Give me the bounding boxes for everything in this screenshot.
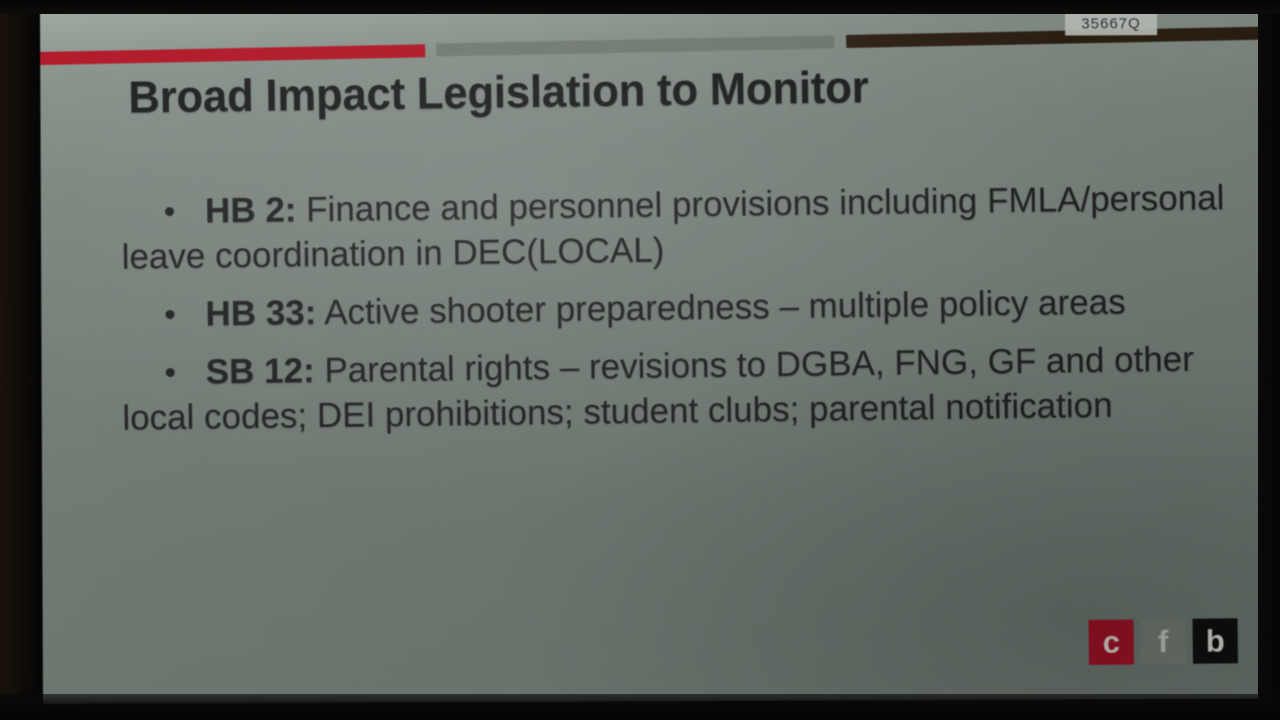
bill-code-label: SB 12: [206,352,315,392]
bottom-bezel-edge [0,694,1280,720]
bill-description: Active shooter preparedness – multiple p… [316,283,1126,333]
right-bezel-edge [1258,0,1280,720]
bill-code-label: HB 33: [205,293,316,333]
bullet-dot-icon [165,207,174,216]
rule-bar-dark [846,27,1262,48]
presentation-slide: 35667Q Broad Impact Legislation to Monit… [40,7,1265,704]
cfb-logo: c f b [1089,618,1239,665]
list-item: HB 33: Active shooter preparedness – mul… [121,278,1231,338]
logo-block-c: c [1089,619,1135,665]
rule-bar-red [40,44,425,65]
bullet-list: HB 2: Finance and personnel provisions i… [121,185,1232,455]
left-bezel-edge [0,0,42,720]
list-item: HB 2: Finance and personnel provisions i… [121,175,1232,280]
clipped-top-label: 35667Q [1065,13,1157,35]
logo-block-b: b [1193,618,1239,664]
rule-bar-gray [436,36,834,57]
logo-block-f: f [1141,619,1187,665]
slide-title: Broad Impact Legislation to Monitor [128,60,1099,121]
list-item: SB 12: Parental rights – revisions to DG… [121,337,1232,442]
top-bezel-edge [0,0,1280,14]
projected-slide-photo: 35667Q Broad Impact Legislation to Monit… [0,0,1280,720]
bill-code-label: HB 2: [205,190,297,230]
